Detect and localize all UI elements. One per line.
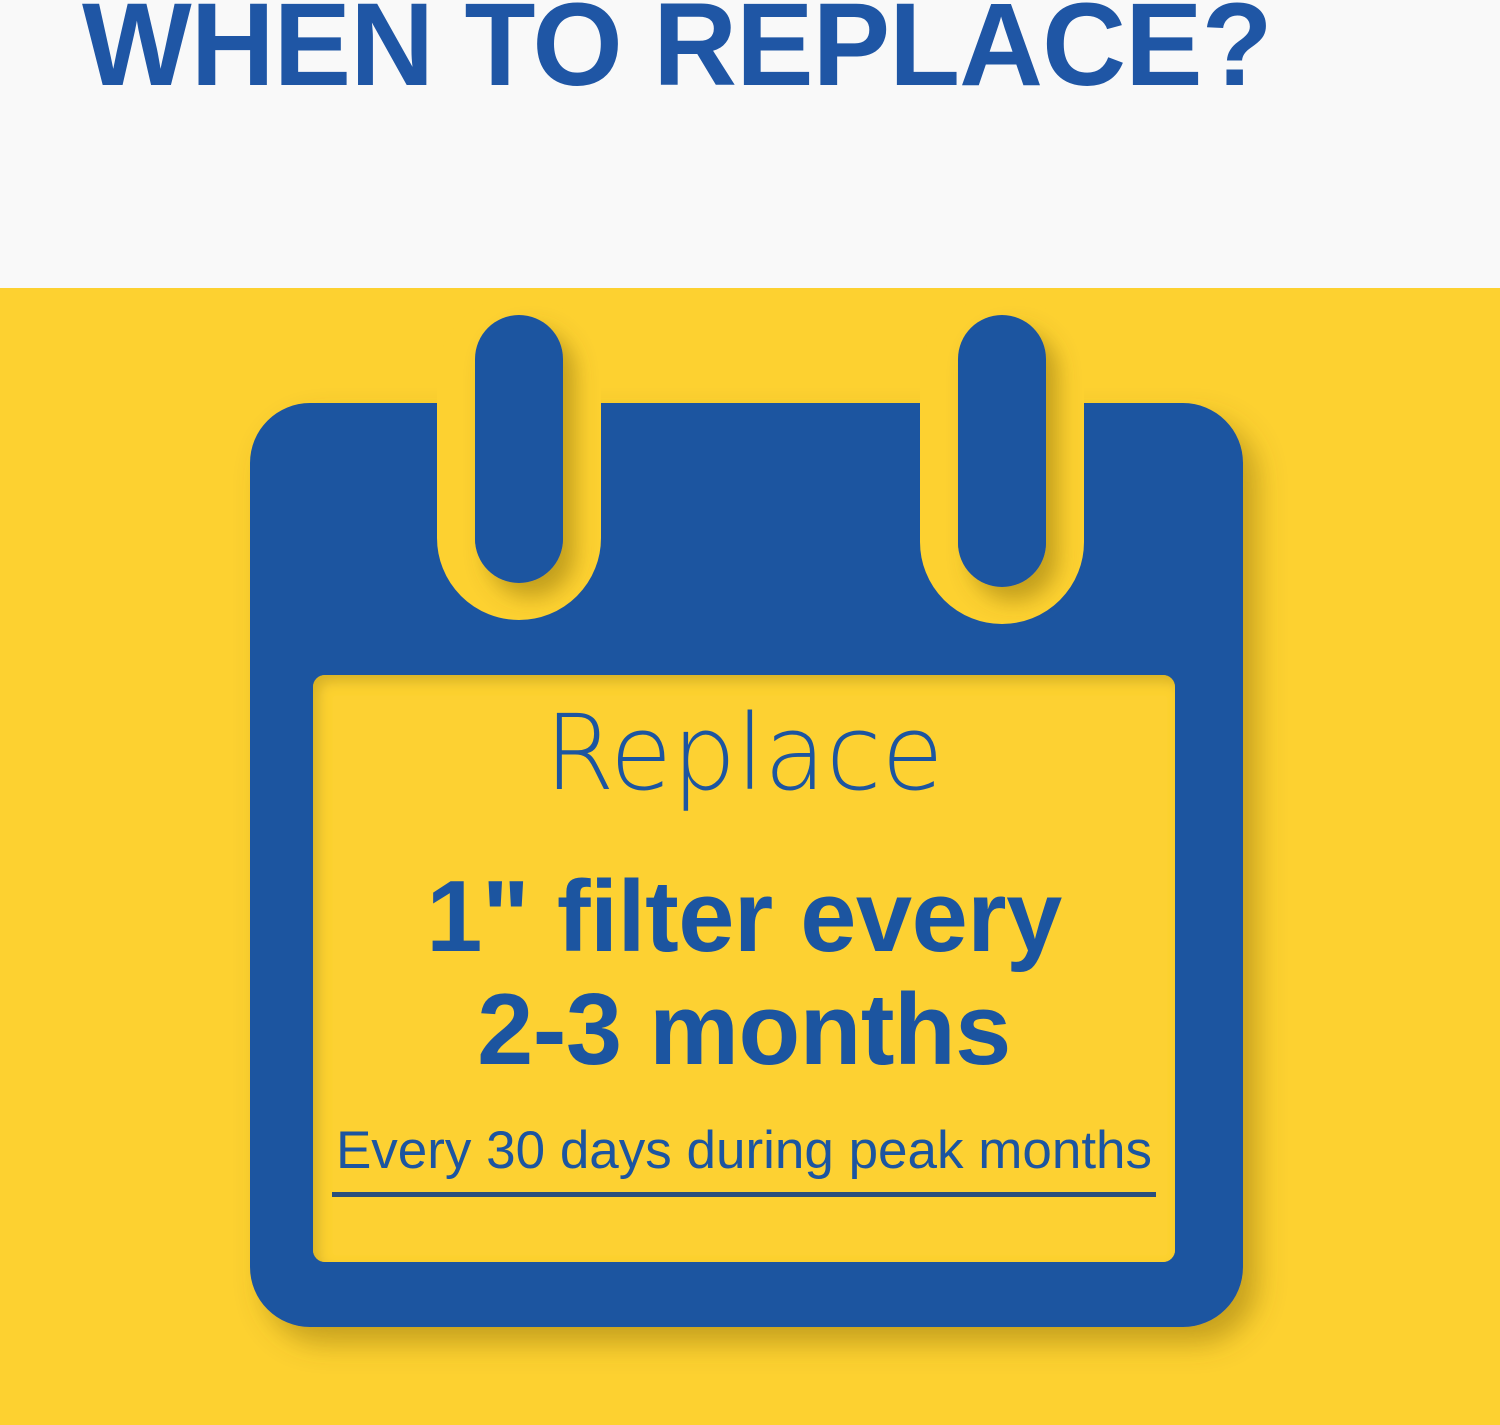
headline-line-2: 2-3 months bbox=[313, 974, 1175, 1087]
infographic-canvas: WHEN TO REPLACE? bbox=[0, 0, 1500, 1425]
replace-subline: Every 30 days during peak months bbox=[332, 1122, 1156, 1197]
headline-line-1: 1" filter every bbox=[313, 861, 1175, 974]
calendar-card-content: Replace 1" filter every 2-3 months Every… bbox=[313, 675, 1175, 1262]
replace-subline-wrap: Every 30 days during peak months bbox=[313, 1122, 1175, 1197]
replace-headline: 1" filter every 2-3 months bbox=[313, 861, 1175, 1087]
header-band: WHEN TO REPLACE? bbox=[0, 0, 1500, 288]
page-title: WHEN TO REPLACE? bbox=[82, 0, 1272, 104]
replace-eyebrow: Replace bbox=[326, 697, 1162, 809]
